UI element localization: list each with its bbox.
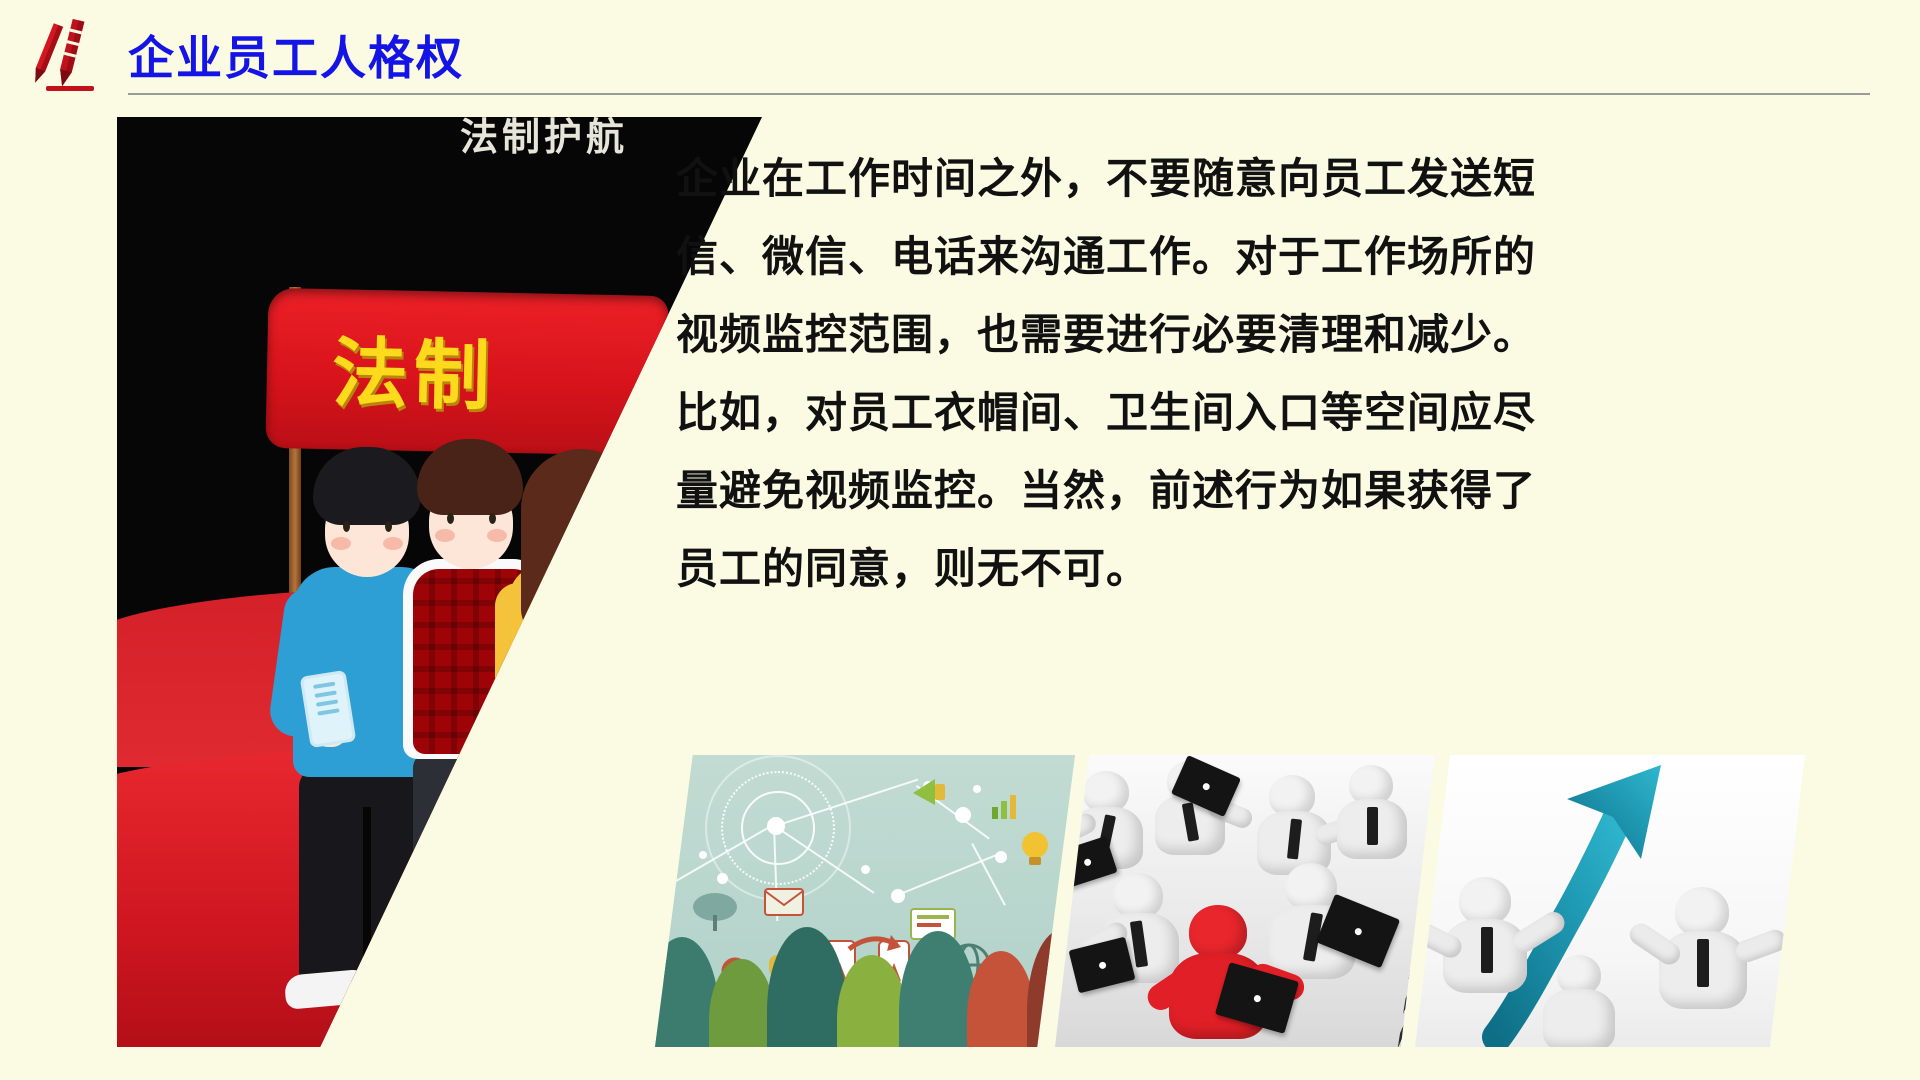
megaphone-icon — [907, 771, 953, 813]
cloud-tree-icon — [689, 889, 747, 935]
pencil-icon — [30, 14, 100, 94]
bar-chart-icon — [989, 791, 1023, 823]
lightbulb-icon — [1015, 829, 1055, 871]
thumbnail-network-infographic[interactable] — [655, 755, 1075, 1047]
body-paragraph-text: 企业在工作时间之外，不要随意向员工发送短信、微信、电话来沟通工作。对于工作场所的… — [676, 140, 1536, 608]
law-banner-text: 法制 — [331, 311, 497, 424]
thumbnail-business-crowd[interactable] — [1055, 755, 1435, 1047]
envelope-icon — [763, 885, 807, 921]
thumbnail-growth-arrow[interactable] — [1415, 755, 1805, 1047]
law-education-illustration: 法制 — [117, 117, 762, 1047]
slide-header: 企业员工人格权 — [0, 0, 1920, 100]
header-divider — [128, 93, 1870, 95]
body-paragraph: 企业在工作时间之外，不要随意向员工发送短信、微信、电话来沟通工作。对于工作场所的… — [676, 140, 1536, 608]
page-title: 企业员工人格权 — [128, 22, 464, 88]
watermark-text: 法制护航 — [460, 106, 628, 161]
